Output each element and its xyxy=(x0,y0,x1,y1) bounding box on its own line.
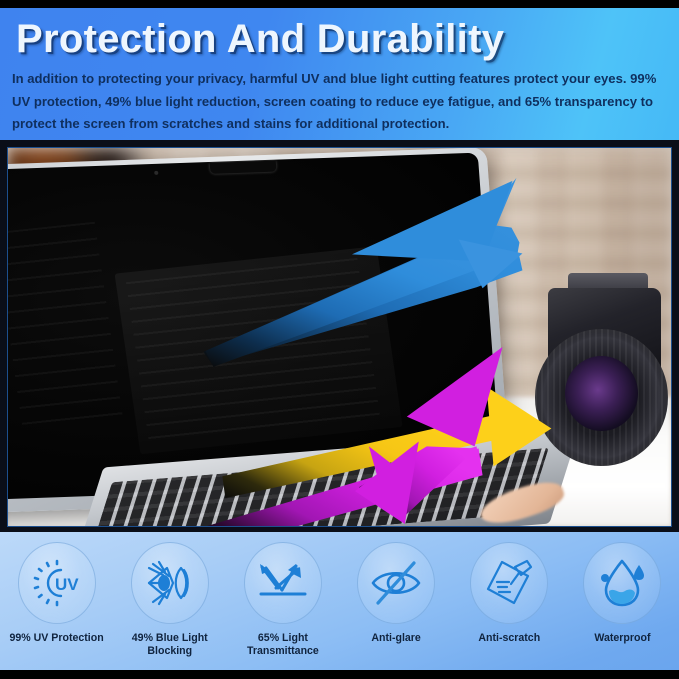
feature-label: Anti-scratch xyxy=(453,632,566,645)
feature-light-transmittance[interactable]: 65% Light Transmittance xyxy=(226,532,339,670)
feature-label: 49% Blue Light Blocking xyxy=(113,632,226,658)
feature-icon-circle: UV xyxy=(18,542,96,624)
feature-icon-circle xyxy=(357,542,435,624)
feature-uv-protection[interactable]: UV 99% UV Protection xyxy=(0,532,113,670)
feature-label: 65% Light Transmittance xyxy=(226,632,339,658)
feature-icon-circle xyxy=(583,542,661,624)
feature-icon-circle xyxy=(244,542,322,624)
light-path-arrows xyxy=(8,148,671,526)
feature-waterproof[interactable]: Waterproof xyxy=(566,532,679,670)
feature-label: Anti-glare xyxy=(340,632,453,645)
anti-glare-eye-off-icon xyxy=(368,560,424,606)
blue-light-eye-icon xyxy=(143,556,197,610)
features-row: UV 99% UV Protection xyxy=(0,532,679,670)
product-infographic: Protection And Durability In addition to… xyxy=(0,0,679,679)
feature-icon-circle xyxy=(131,542,209,624)
svg-text:UV: UV xyxy=(55,575,79,594)
blue-arrow xyxy=(203,178,522,367)
feature-label: 99% UV Protection xyxy=(0,632,113,645)
waterproof-droplet-icon xyxy=(597,557,647,609)
features-section: UV 99% UV Protection xyxy=(0,532,679,670)
bottom-black-bar xyxy=(0,670,679,679)
page-title: Protection And Durability xyxy=(16,17,504,62)
feature-anti-scratch[interactable]: Anti-scratch xyxy=(453,532,566,670)
header-banner: Protection And Durability In addition to… xyxy=(0,8,679,140)
light-transmittance-icon xyxy=(256,558,310,608)
feature-label: Waterproof xyxy=(566,632,679,645)
feature-anti-glare[interactable]: Anti-glare xyxy=(340,532,453,670)
hero-photo-frame xyxy=(0,140,679,532)
feature-icon-circle xyxy=(470,542,548,624)
anti-scratch-knife-icon xyxy=(483,557,535,609)
uv-sun-icon: UV xyxy=(31,557,83,609)
header-description: In addition to protecting your privacy, … xyxy=(12,68,672,136)
hero-photo xyxy=(7,147,672,527)
top-black-bar xyxy=(0,0,679,8)
feature-blue-light-blocking[interactable]: 49% Blue Light Blocking xyxy=(113,532,226,670)
magenta-arrow xyxy=(207,347,502,526)
